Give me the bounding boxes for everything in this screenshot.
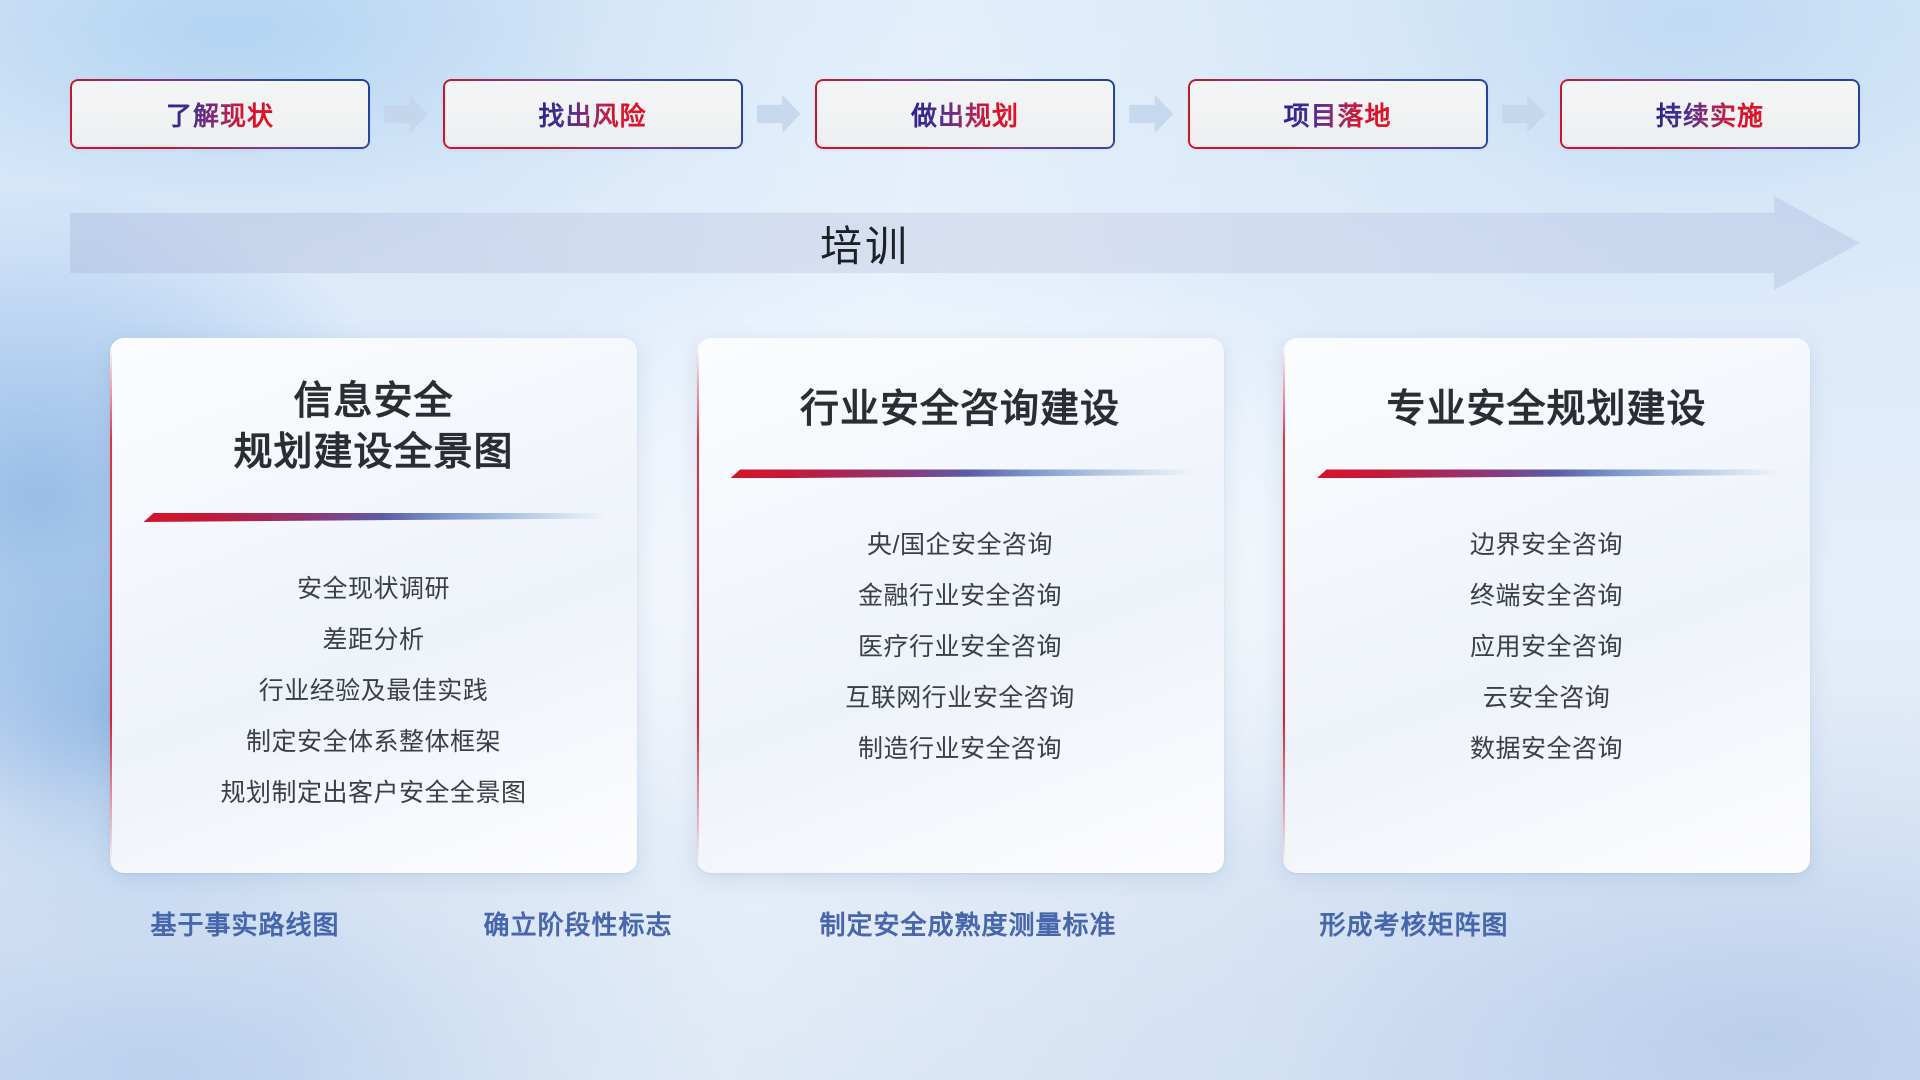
card-list-wrap-1: 安全现状调研 差距分析 行业经验及最佳实践 制定安全体系整体框架 规划制定出客户… — [136, 522, 611, 873]
card-list-3: 边界安全咨询 终端安全咨询 应用安全咨询 云安全咨询 数据安全咨询 — [1309, 524, 1784, 771]
card-list-2: 央/国企安全咨询 金融行业安全咨询 医疗行业安全咨询 互联网行业安全咨询 制造行… — [723, 524, 1198, 771]
list-item: 央/国企安全咨询 — [867, 524, 1053, 567]
card-industry-security-consulting[interactable]: 行业安全咨询建设 央/国企安全咨询 金融行业安全咨询 医疗行业安全咨询 互联网行… — [697, 338, 1224, 873]
cards-row: 信息安全 规划建设全景图 安全现状调研 差距分析 行业经验及最佳实践 制定安全体… — [110, 338, 1810, 873]
step-box-4[interactable]: 项目落地 — [1188, 79, 1488, 149]
card-divider-3 — [1317, 469, 1777, 478]
card-divider-wrap-2 — [723, 469, 1198, 478]
process-step-row: 了解现状 找出风险 做出规划 项目落地 持续实施 — [70, 78, 1860, 150]
step-label-1: 了解现状 — [166, 96, 274, 133]
card-professional-security-planning[interactable]: 专业安全规划建设 边界安全咨询 终端安全咨询 应用安全咨询 云安全咨询 数据安全… — [1283, 338, 1810, 873]
bottom-label-row: 基于事实路线图 确立阶段性标志 制定安全成熟度测量标准 形成考核矩阵图 — [0, 905, 1920, 955]
step-label-3: 做出规划 — [911, 96, 1019, 133]
list-item: 云安全咨询 — [1483, 677, 1611, 720]
arrow-right-icon-4 — [1502, 95, 1546, 133]
list-item: 制造行业安全咨询 — [858, 728, 1062, 771]
list-item: 规划制定出客户安全全景图 — [220, 772, 526, 815]
list-item: 应用安全咨询 — [1470, 626, 1623, 669]
card-divider-wrap-3 — [1309, 469, 1784, 478]
step-box-3[interactable]: 做出规划 — [815, 79, 1115, 149]
arrow-right-icon-1 — [384, 95, 428, 133]
bottom-label-1: 基于事实路线图 — [150, 905, 339, 942]
step-box-2[interactable]: 找出风险 — [443, 79, 743, 149]
list-item: 数据安全咨询 — [1470, 728, 1623, 771]
bottom-label-2: 确立阶段性标志 — [483, 905, 672, 942]
list-item: 制定安全体系整体框架 — [246, 721, 501, 764]
card-title-2: 行业安全咨询建设 — [723, 384, 1198, 435]
step-label-4: 项目落地 — [1283, 96, 1391, 133]
arrow-right-icon-2 — [757, 95, 801, 133]
card-divider-1 — [144, 513, 604, 522]
card-list-1: 安全现状调研 差距分析 行业经验及最佳实践 制定安全体系整体框架 规划制定出客户… — [136, 568, 611, 815]
arrow-right-icon-3 — [1129, 95, 1173, 133]
card-divider-wrap-1 — [136, 513, 611, 522]
list-item: 终端安全咨询 — [1470, 575, 1623, 618]
bottom-label-4: 形成考核矩阵图 — [1319, 905, 1508, 942]
training-banner-arrow: 培训 — [70, 196, 1860, 290]
step-box-1[interactable]: 了解现状 — [70, 79, 370, 149]
list-item: 金融行业安全咨询 — [858, 575, 1062, 618]
list-item: 差距分析 — [322, 619, 424, 662]
list-item: 行业经验及最佳实践 — [259, 670, 489, 713]
card-title-1: 信息安全 规划建设全景图 — [136, 376, 611, 479]
list-item: 安全现状调研 — [297, 568, 450, 611]
card-list-wrap-3: 边界安全咨询 终端安全咨询 应用安全咨询 云安全咨询 数据安全咨询 — [1309, 478, 1784, 873]
card-divider-2 — [730, 469, 1190, 478]
list-item: 互联网行业安全咨询 — [845, 677, 1075, 720]
bottom-label-3: 制定安全成熟度测量标准 — [819, 905, 1116, 942]
step-label-5: 持续实施 — [1656, 96, 1764, 133]
list-item: 医疗行业安全咨询 — [858, 626, 1062, 669]
card-information-security-blueprint[interactable]: 信息安全 规划建设全景图 安全现状调研 差距分析 行业经验及最佳实践 制定安全体… — [110, 338, 637, 873]
card-title-3: 专业安全规划建设 — [1309, 384, 1784, 435]
slide-canvas: 了解现状 找出风险 做出规划 项目落地 持续实施 培训 信息安全 规划建设全景图 — [0, 0, 1920, 1080]
card-list-wrap-2: 央/国企安全咨询 金融行业安全咨询 医疗行业安全咨询 互联网行业安全咨询 制造行… — [723, 478, 1198, 873]
list-item: 边界安全咨询 — [1470, 524, 1623, 567]
step-label-2: 找出风险 — [538, 96, 646, 133]
training-banner-label: 培训 — [820, 213, 910, 274]
step-box-5[interactable]: 持续实施 — [1560, 79, 1860, 149]
